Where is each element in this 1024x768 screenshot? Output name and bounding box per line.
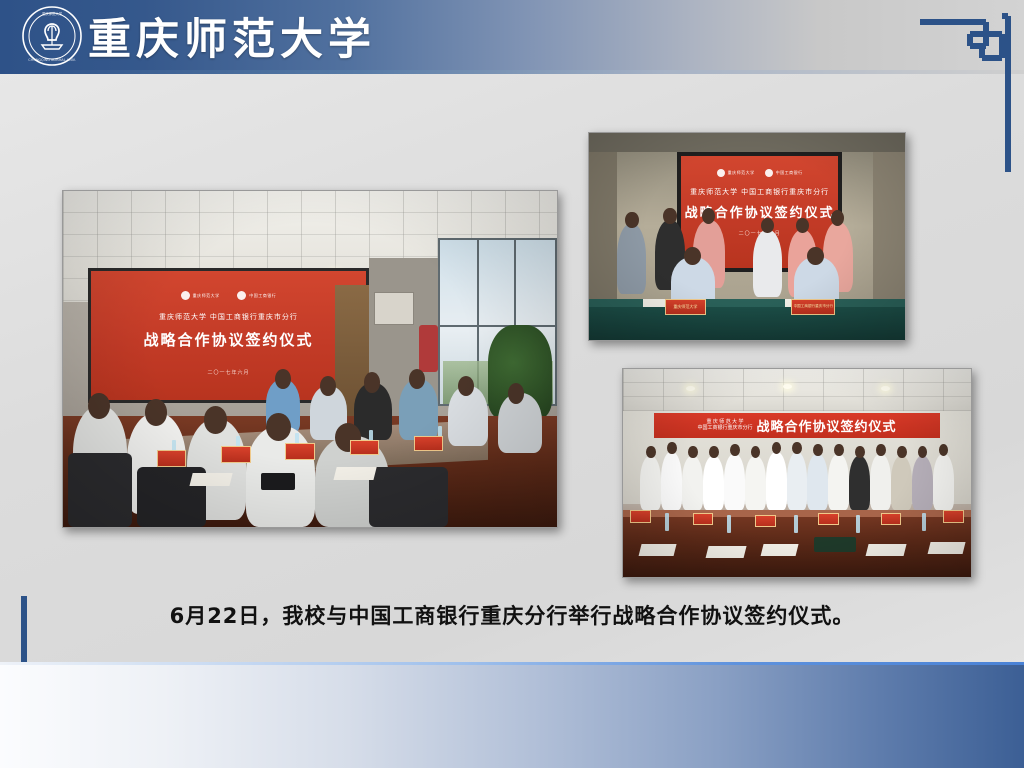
slide-canvas: 重庆师范大学 CHONGQING NORMAL UNIV. 重庆师范大学 (0, 0, 1024, 768)
banner-main-title: 战略合作协议签约仪式 (756, 416, 896, 435)
slide-caption: 6月22日，我校与中国工商银行重庆分行举行战略合作协议签约仪式。 (0, 600, 1024, 630)
svg-text:CHONGQING NORMAL UNIV.: CHONGQING NORMAL UNIV. (28, 58, 75, 62)
banner-left-line2: 中国工商银行重庆市分行 (697, 425, 752, 431)
screen-subtitle: 重庆师范大学 中国工商银行重庆市分行 (102, 312, 356, 322)
signing-screen-subtitle: 重庆师范大学 中国工商银行重庆市分行 (688, 187, 832, 197)
nameplate-bank: 中国工商银行重庆市分行 (794, 304, 834, 309)
meander-ornament-top-right-icon (916, 6, 1016, 178)
group-photo-banner: 重 庆 师 范 大 学 中国工商银行重庆市分行 战略合作协议签约仪式 (654, 413, 939, 438)
footer-band (0, 665, 1024, 768)
screen-logo-right-label: 中国工商银行 (249, 293, 276, 299)
signing-screen-logo-left: 重庆师范大学 (728, 170, 755, 176)
photo-group-photo: 重 庆 师 范 大 学 中国工商银行重庆市分行 战略合作协议签约仪式 (622, 368, 972, 578)
signing-screen-logo-right: 中国工商银行 (776, 170, 803, 176)
screen-logo-left-label: 重庆师范大学 (193, 293, 220, 299)
photo-signing-ceremony: 重庆师范大学 中国工商银行 重庆师范大学 中国工商银行重庆市分行 战略合作协议签… (588, 132, 906, 341)
screen-title: 战略合作协议签约仪式 (96, 329, 361, 350)
screen-date: 二〇一七年六月 (91, 369, 367, 376)
page-title: 重庆师范大学 (88, 4, 376, 68)
photo-meeting-room: 重庆师范大学 中国工商银行 重庆师范大学 中国工商银行重庆市分行 战略合作协议签… (62, 190, 558, 528)
university-seal-icon: 重庆师范大学 CHONGQING NORMAL UNIV. (22, 6, 82, 66)
nameplate-university: 重庆师范大学 (673, 304, 697, 310)
svg-text:重庆师范大学: 重庆师范大学 (42, 11, 63, 16)
header-underline (0, 70, 1024, 74)
